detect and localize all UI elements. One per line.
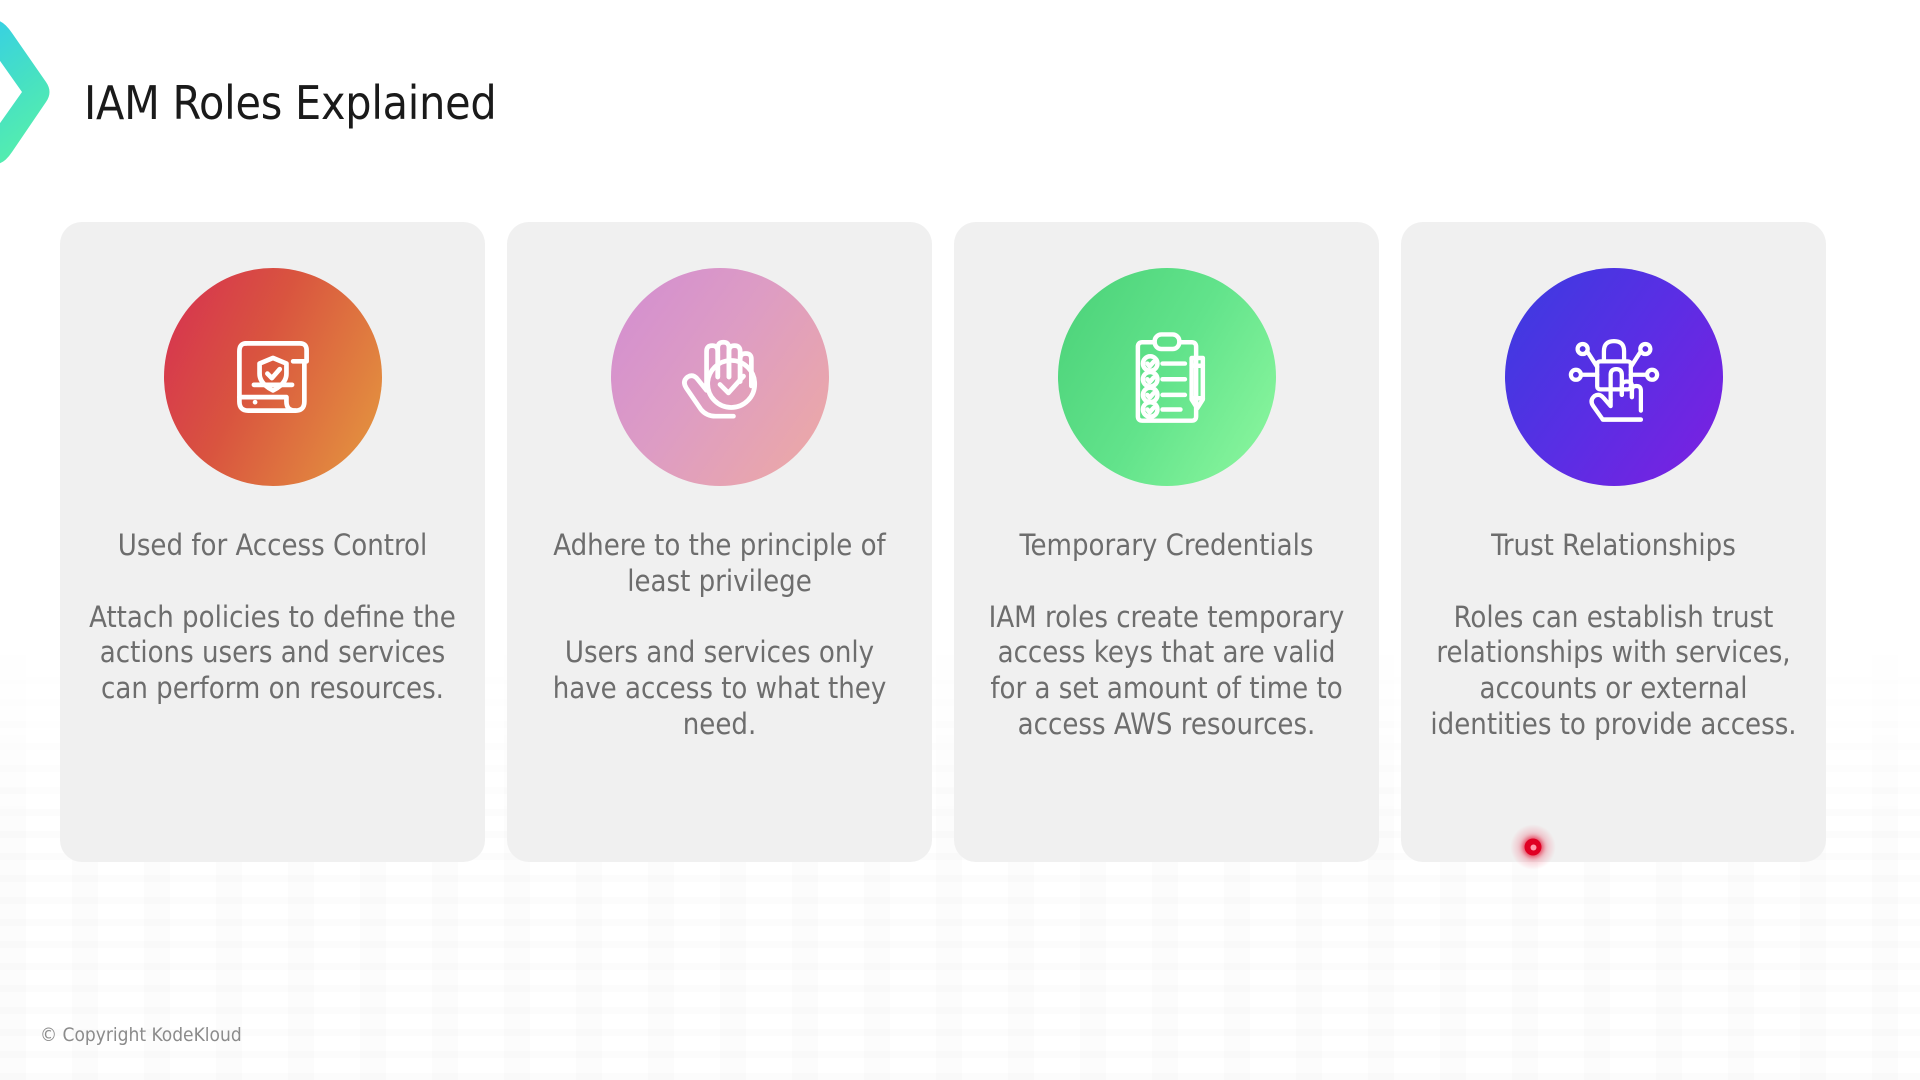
card-body: IAM roles create temporary access keys t… [978,600,1355,743]
card-heading: Used for Access Control [118,528,428,564]
info-card-temporary-credentials[interactable]: Temporary Credentials IAM roles create t… [954,222,1379,862]
footer-copyright: © Copyright KodeKloud [40,1024,242,1046]
card-heading: Temporary Credentials [1020,528,1314,564]
card-body: Users and services only have access to w… [531,635,908,742]
hand-stop-check-icon [611,268,829,486]
cards-container: Used for Access Control Attach policies … [60,222,1860,862]
card-body: Attach policies to define the actions us… [84,600,461,707]
hand-pointer-lock-network-icon [1505,268,1723,486]
chevron-right-logo-icon [0,16,52,168]
info-card-trust-relationships[interactable]: Trust Relationships Roles can establish … [1401,222,1826,862]
card-heading: Trust Relationships [1491,528,1736,564]
info-card-access-control[interactable]: Used for Access Control Attach policies … [60,222,485,862]
card-heading: Adhere to the principle of least privile… [531,528,908,599]
card-body: Roles can establish trust relationships … [1425,600,1802,743]
page-title: IAM Roles Explained [84,76,496,130]
info-card-least-privilege[interactable]: Adhere to the principle of least privile… [507,222,932,862]
clipboard-checklist-pencil-icon [1058,268,1276,486]
scroll-shield-check-icon [164,268,382,486]
